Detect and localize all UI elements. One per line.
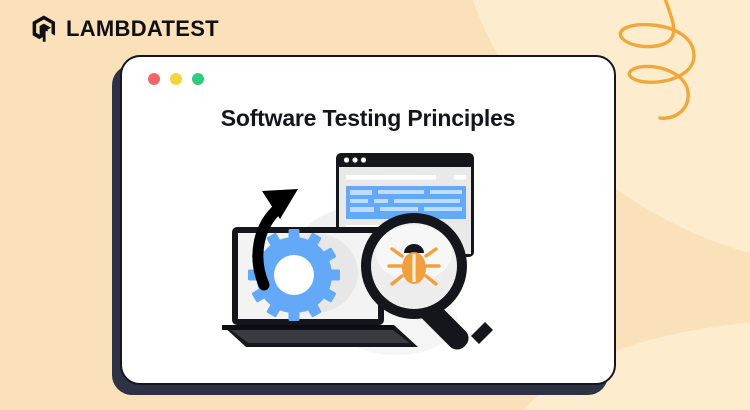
lambdatest-hexagon-arrow-logo-icon bbox=[30, 14, 58, 44]
maximize-dot-icon[interactable] bbox=[192, 73, 204, 85]
close-dot-icon[interactable] bbox=[148, 73, 160, 85]
lambdatest-wordmark: LAMBDATEST bbox=[66, 16, 219, 42]
minimize-dot-icon[interactable] bbox=[170, 73, 182, 85]
page-title: Software Testing Principles bbox=[122, 105, 614, 132]
window-controls bbox=[148, 73, 204, 85]
content-card: Software Testing Principles bbox=[120, 55, 616, 385]
swirl-decoration-icon bbox=[602, 0, 722, 144]
lambdatest-logo[interactable]: LAMBDATEST bbox=[30, 14, 219, 44]
card-surface: Software Testing Principles bbox=[120, 55, 616, 385]
software-testing-illustration bbox=[218, 145, 518, 360]
